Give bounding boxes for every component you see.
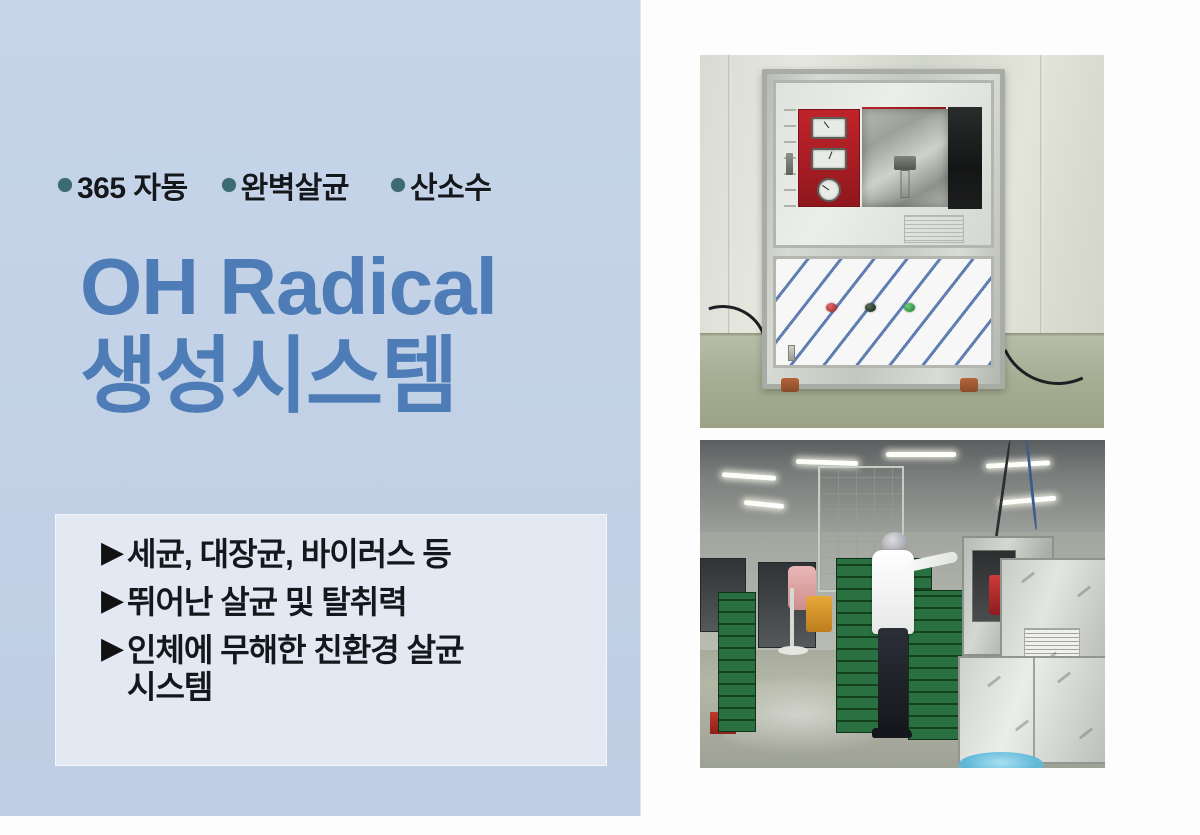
triangle-right-icon: ▶ [101,584,125,619]
feature-item-label: 세균, 대장균, 바이러스 등 [127,536,451,574]
diagonal-stripe-pattern [776,259,991,365]
triangle-right-icon: ▶ [101,536,125,571]
bullet-dot-icon [222,178,236,192]
slide-root: 365 자동 완벽살균 산소수 OH Radical 생성시스템 ▶ 세균, 대… [0,0,1200,835]
pressure-gauge-icon [817,178,841,202]
bullet-dot-icon [58,178,72,192]
worker-legs [878,628,908,732]
bullet-dot-icon [391,178,405,192]
feature-tag-row: 365 자동 완벽살균 산소수 [58,163,491,207]
feature-item-label: 인체에 무해한 친환경 살균 시스템 [127,632,464,708]
red-control-panel [798,109,860,207]
door-latch-icon [788,345,795,361]
indicator-lamp-red-icon [826,303,837,312]
feature-list: ▶ 세균, 대장균, 바이러스 등 ▶ 뛰어난 살균 및 탈취력 ▶ 인체에 무… [55,514,607,707]
photo-factory-installation [700,440,1105,768]
list-item: ▶ 뛰어난 살균 및 탈취력 [101,584,607,622]
title-line-korean: 생성시스템 [80,332,497,421]
title-line-english: OH Radical [80,245,497,330]
dark-interior-bay [948,107,982,209]
tag-label: 산소수 [410,163,491,207]
indicator-lamp-dark-icon [865,303,876,312]
tag-label: 완벽살균 [241,163,349,207]
feature-list-box: ▶ 세균, 대장균, 바이러스 등 ▶ 뛰어난 살균 및 탈취력 ▶ 인체에 무… [55,514,607,766]
installed-machine-lower-cabinet [958,656,1105,764]
gauge-icon [811,148,847,170]
tag-oxygenated-water: 산소수 [391,163,491,207]
page-title: OH Radical 생성시스템 [80,245,497,421]
list-item: ▶ 세균, 대장균, 바이러스 등 [101,536,607,574]
fan-stand [790,588,794,650]
photo-machine-unit [700,55,1104,428]
yellow-bin [806,596,832,632]
vent-grille [904,215,964,243]
tag-perfect-sterilization: 완벽살균 [222,163,349,207]
feature-item-label: 뛰어난 살균 및 탈취력 [127,584,407,622]
reaction-chamber [862,109,948,207]
triangle-right-icon: ▶ [101,632,125,667]
crate-stack [718,592,756,732]
caster-wheel-icon [781,378,799,392]
gauge-icon [811,117,847,139]
machine-upper-chamber [773,80,994,248]
machine-cabinet [762,69,1005,389]
worker-shoe [872,728,912,738]
tag-365-auto: 365 자동 [58,163,188,207]
valve-icon [894,156,916,170]
caster-wheel-icon [960,378,978,392]
machine-lower-door [773,256,994,368]
indicator-lamp-green-icon [904,303,915,312]
fan-base [778,646,808,655]
valve-stem [901,170,910,198]
cabinet-door-split [1033,658,1035,762]
left-content-panel: 365 자동 완벽살균 산소수 OH Radical 생성시스템 ▶ 세균, 대… [0,0,641,816]
tag-label: 365 자동 [77,163,188,207]
list-item: ▶ 인체에 무해한 친환경 살균 시스템 [101,632,607,708]
indicator-lamp-row [826,303,915,312]
door-hinge [786,153,793,175]
